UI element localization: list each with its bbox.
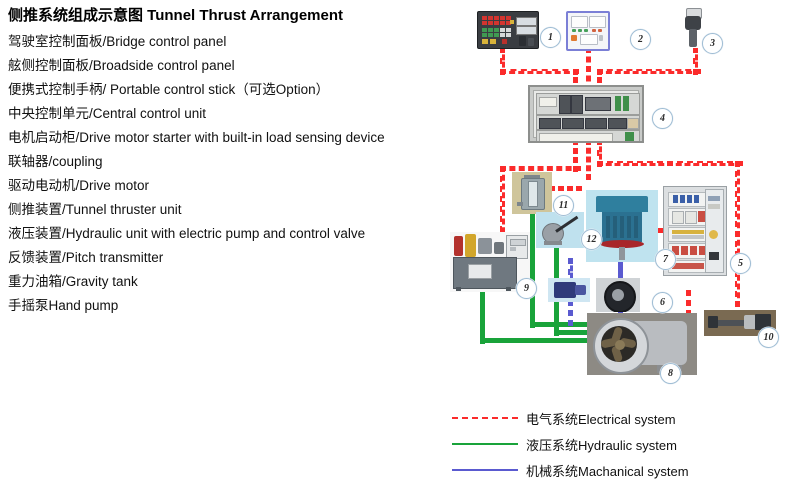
- legend-label-mechanical: 机械系统Machanical system: [526, 461, 689, 480]
- badge-3: 3: [702, 33, 723, 54]
- ccu-row-top: [536, 93, 640, 115]
- starter-rail-2: [668, 208, 708, 226]
- bridge-panel-display-lower: [516, 26, 537, 35]
- badge-2: 2: [630, 29, 651, 50]
- legend-row-mechanical: 机械系统Machanical system: [452, 457, 782, 483]
- hyd-line-gravity-to-thruster: [530, 322, 593, 327]
- part-list-item-11: 重力油箱/Gravity tank: [8, 270, 458, 294]
- hydraulic-control-box[interactable]: [506, 235, 528, 259]
- component-control-valve-block[interactable]: [548, 278, 590, 302]
- hydraulic-filter-red: [454, 236, 463, 256]
- part-list-item-3: 便携式控制手柄/ Portable control stick（可选Option…: [8, 78, 458, 102]
- hyd-line-hydraulic-down: [480, 288, 485, 344]
- thruster-ring: [593, 318, 649, 374]
- bridge-panel-joystick[interactable]: [519, 36, 526, 46]
- control-stick-grip: [685, 16, 701, 30]
- badge-11: 11: [553, 195, 574, 216]
- elec-line-panel3-left: [597, 69, 701, 74]
- legend-row-hydraulic: 液压系统Hydraulic system: [452, 431, 782, 457]
- component-drive-motor[interactable]: [586, 190, 658, 262]
- elec-line-left-bus-down: [500, 166, 505, 242]
- pitch-transmitter-end-left: [708, 316, 718, 328]
- elec-line-starter-right-down: [735, 161, 740, 307]
- starter-cabinet-door[interactable]: [705, 189, 724, 273]
- hydraulic-pump-motor: [478, 238, 492, 254]
- bridge-panel-knob[interactable]: [528, 38, 534, 46]
- part-list-item-10: 反馈装置/Pitch transmitter: [8, 246, 458, 270]
- ccu-row-terminals: [536, 130, 640, 143]
- badge-6: 6: [652, 292, 673, 313]
- part-list-item-4: 中央控制单元/Central control unit: [8, 102, 458, 126]
- legend-label-hydraulic: 液压系统Hydraulic system: [526, 435, 677, 454]
- badge-5: 5: [730, 253, 751, 274]
- control-stick-shaft: [689, 29, 697, 47]
- bridge-panel-display-upper: [516, 17, 537, 26]
- hydraulic-filter-yellow: [465, 234, 476, 257]
- parts-legend-text: 侧推系统组成示意图 Tunnel Thrust Arrangement 驾驶室控…: [8, 6, 458, 318]
- elec-line-ccu-out-mid: [586, 139, 591, 180]
- badge-4: 4: [652, 108, 673, 129]
- bridge-panel-green-keys: [482, 28, 511, 37]
- part-list-item-7: 驱动电动机/Drive motor: [8, 174, 458, 198]
- badge-8: 8: [660, 363, 681, 384]
- broadside-screen-right: [589, 16, 606, 28]
- component-tunnel-thruster-unit[interactable]: [587, 313, 697, 375]
- badge-12: 12: [581, 229, 602, 250]
- valve-actuator: [575, 285, 586, 295]
- hand-pump-base: [544, 241, 562, 245]
- hyd-line-hydraulic-to-thruster: [480, 338, 593, 343]
- diagram-canvas: 1 2 3: [440, 0, 788, 400]
- starter-rail-3: [668, 227, 708, 242]
- legend-swatch-electrical: [452, 417, 518, 419]
- component-central-control-unit[interactable]: [528, 85, 644, 143]
- part-list-item-6: 联轴器/coupling: [8, 150, 458, 174]
- elec-line-ccu-to-starter: [597, 161, 743, 166]
- badge-9: 9: [516, 278, 537, 299]
- system-legend: 电气系统Electrical system 液压系统Hydraulic syst…: [452, 405, 782, 483]
- bridge-panel-red-keys: [482, 16, 511, 25]
- part-list-item-2: 舷侧控制面板/Broadside control panel: [8, 54, 458, 78]
- mech-line-valve-bottom-dashed: [568, 300, 573, 326]
- gravity-tank-valve: [517, 202, 523, 206]
- diagram-page: 侧推系统组成示意图 Tunnel Thrust Arrangement 驾驶室控…: [0, 0, 788, 490]
- badge-1: 1: [540, 27, 561, 48]
- broadside-screen-left: [571, 16, 588, 28]
- part-list-item-8: 侧推装置/Tunnel thruster unit: [8, 198, 458, 222]
- valve-body: [554, 282, 576, 298]
- broadside-keypad[interactable]: [580, 34, 598, 45]
- legend-row-electrical: 电气系统Electrical system: [452, 405, 782, 431]
- ccu-row-mid: [536, 115, 640, 130]
- hydraulic-reservoir: [453, 257, 517, 289]
- component-gravity-tank[interactable]: [512, 172, 552, 214]
- part-list: 驾驶室控制面板/Bridge control panel 舷侧控制面板/Broa…: [8, 30, 458, 318]
- elec-line-panel1-right: [500, 69, 579, 74]
- legend-swatch-mechanical: [452, 469, 518, 471]
- hyd-line-gravity-down: [530, 212, 535, 328]
- part-list-item-12: 手摇泵Hand pump: [8, 294, 458, 318]
- coupling-hub: [612, 289, 624, 301]
- badge-10: 10: [758, 327, 779, 348]
- component-broadside-control-panel[interactable]: [566, 11, 610, 51]
- legend-swatch-hydraulic: [452, 443, 518, 445]
- ccu-inner-panel: [533, 90, 639, 138]
- starter-rail-1: [668, 192, 708, 207]
- badge-7: 7: [655, 249, 676, 270]
- part-list-item-5: 电机启动柜/Drive motor starter with built-in …: [8, 126, 458, 150]
- drive-motor-shaft: [619, 247, 625, 260]
- legend-label-electrical: 电气系统Electrical system: [526, 409, 676, 428]
- component-coupling[interactable]: [596, 278, 640, 312]
- part-list-item-9: 液压装置/Hydraulic unit with electric pump a…: [8, 222, 458, 246]
- part-list-item-1: 驾驶室控制面板/Bridge control panel: [8, 30, 458, 54]
- elec-line-ccu-to-gravity-branch: [500, 166, 581, 171]
- gravity-tank-sight-glass: [528, 181, 538, 207]
- drive-motor-terminal-box: [596, 196, 648, 212]
- component-hand-pump[interactable]: [536, 212, 584, 248]
- page-title: 侧推系统组成示意图 Tunnel Thrust Arrangement: [8, 6, 458, 26]
- component-bridge-control-panel[interactable]: [477, 11, 539, 49]
